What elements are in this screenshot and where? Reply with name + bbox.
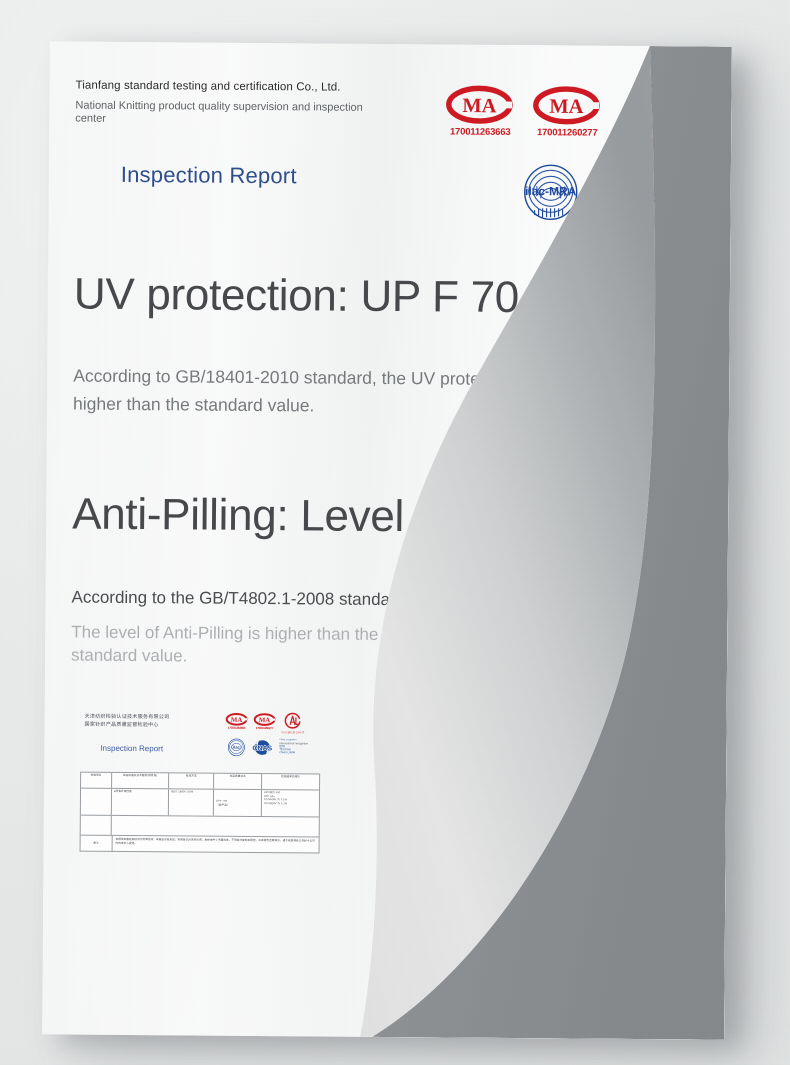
- document-header: Tianfang standard testing and certificat…: [75, 80, 405, 129]
- table-note-text: 本报告未盖检验检测专用章无效；本报告涂改无效；本报告仅对来样负责；未经本中心书面…: [116, 838, 316, 847]
- cma-icon: MA: [532, 85, 600, 126]
- svg-text:MA: MA: [462, 95, 496, 117]
- inspection-report-page: Tianfang standard testing and certificat…: [42, 41, 732, 1039]
- cma-icon: MA: [254, 713, 276, 726]
- table-note-row: 备注 本报告未盖检验检测专用章无效；本报告涂改无效；本报告仅对来样负责；未经本中…: [81, 836, 319, 854]
- table-cell: UPF值为 142 UPF 50+ T(UVA)AV 为 1.1% T(UVB)…: [262, 790, 319, 816]
- logo-row-secondary: ilac-MRA CNAS China recognition Internat…: [444, 162, 731, 228]
- table-cell-text: UPF值为 142 UPF 50+ T(UVA)AV 为 1.1% T(UVB)…: [264, 791, 317, 805]
- screenshot-canvas: Tianfang standard testing and certificat…: [0, 0, 790, 1065]
- svg-text:MA: MA: [549, 96, 583, 118]
- thumbnail-company-cn: 天津纺织检验认证技术服务有限公司 国家针织产品质量监督检验中心: [85, 714, 170, 730]
- cnas-icon: CNAS: [249, 739, 275, 756]
- table-cell-text: UPF >50 （原产品）: [216, 791, 259, 807]
- ilac-mra-icon: ilac-MRA: [519, 163, 583, 222]
- thumbnail-cal-number: (017) 国认监 (100) 号: [281, 730, 325, 734]
- page-title: Inspection Report: [121, 162, 297, 189]
- table-header-cell: 样品质量状态: [214, 774, 262, 789]
- anti-pilling-standard-paragraph: According to the GB/T4802.1-2008 standar…: [71, 584, 410, 614]
- thumbnail-cal: (017) 国认监 (100) 号: [281, 712, 325, 734]
- company-name: Tianfang standard testing and certificat…: [76, 80, 406, 95]
- cma-icon: MA: [226, 713, 248, 726]
- cnas-icon: CNAS: [591, 166, 669, 221]
- table-cell-text: ●防紫外线性能: [114, 790, 166, 794]
- cnas-testing-en: TESTING: [661, 199, 732, 212]
- table-cell: [112, 816, 319, 837]
- table-cell: UPF >50 （原产品）: [214, 790, 262, 816]
- table-header-label: 检验项目: [83, 774, 109, 778]
- table-header-label: 检测方法: [171, 774, 211, 778]
- svg-text:CNAS: CNAS: [600, 184, 660, 207]
- thumbnail-results-table: 检验项目 检验依据及技术要求(标准值) 检测方法 样品质量状态 检验结果及结论: [80, 772, 321, 854]
- table-cell: [81, 789, 112, 815]
- thumbnail-company-line1: 天津纺织检验认证技术服务有限公司: [85, 714, 170, 722]
- cnas-testing-cn: 检测: [661, 187, 732, 200]
- thumbnail-company-line2: 国家针织产品质量监督检验中心: [85, 721, 170, 729]
- cma-number-1: 170011263663: [445, 126, 515, 138]
- page-content: Tianfang standard testing and certificat…: [42, 41, 732, 1039]
- uv-protection-paragraph: According to GB/18401-2010 standard, the…: [73, 362, 633, 423]
- svg-text:MA: MA: [259, 717, 270, 724]
- table-cell: [81, 816, 112, 835]
- thumbnail-cma-number-1: 170011263663: [226, 726, 248, 730]
- center-name: National Knitting product quality superv…: [75, 100, 375, 128]
- table-blank-row: [81, 816, 319, 838]
- cal-number: (017) National recognition (100) No.: [623, 136, 732, 146]
- anti-pilling-result-paragraph: The level of Anti-Pilling is higher than…: [71, 622, 401, 670]
- thumbnail-cnas-accreditation-code: CNAS L0608: [279, 751, 308, 754]
- table-header-cell: 检验项目: [81, 773, 112, 788]
- cal-icon: [627, 82, 679, 134]
- ilac-mra-icon: ilac: [226, 738, 246, 757]
- table-header-cell: 检验结果及结论: [262, 774, 319, 789]
- logo-row-primary: MA 170011263663 MA: [445, 84, 732, 158]
- table-note-label: 备注: [93, 842, 98, 846]
- anti-pilling-heading: Anti-Pilling: Level 4-5: [72, 490, 479, 543]
- cal-certification: (017) National recognition (100) No.: [623, 82, 732, 146]
- cma-icon: MA: [445, 84, 513, 125]
- table-header-label: 检验依据及技术要求(标准值): [114, 774, 166, 778]
- table-cell: ●防紫外线性能: [112, 789, 169, 815]
- svg-text:MA: MA: [231, 717, 242, 724]
- table-note-label-cell: 备注: [81, 836, 113, 852]
- cma-certification-2: MA 170011260277: [532, 85, 602, 139]
- thumbnail-logos: MA 170011263663 MA: [225, 713, 325, 763]
- cal-icon: [284, 712, 302, 730]
- thumbnail-cma-number-2: 170011260277: [254, 726, 276, 730]
- cnas-text-block: China recognition International recognit…: [661, 166, 732, 224]
- table-header-label: 检验结果及结论: [264, 775, 317, 779]
- svg-text:ilac-MRA: ilac-MRA: [525, 184, 577, 198]
- cma-number-2: 170011260277: [532, 127, 602, 139]
- thumbnail-cma-1: MA 170011263663: [226, 713, 248, 730]
- cma-certification-1: MA 170011263663: [445, 84, 515, 138]
- uv-protection-heading: UV protection: UP F 70 +: [74, 270, 557, 324]
- report-thumbnail[interactable]: 天津纺织检验认证技术服务有限公司 国家针织产品质量监督检验中心 Inspecti…: [80, 714, 321, 854]
- thumbnail-header: 天津纺织检验认证技术服务有限公司 国家针织产品质量监督检验中心 Inspecti…: [80, 714, 320, 768]
- svg-text:CNAS: CNAS: [253, 745, 273, 752]
- thumbnail-logo-row-2: ilac CNAS China recognition Internationa…: [225, 738, 325, 763]
- table-note-body-cell: 本报告未盖检验检测专用章无效；本报告涂改无效；本报告仅对来样负责；未经本中心书面…: [112, 836, 318, 854]
- thumbnail-cnas-text: China recognition International recognit…: [279, 739, 308, 754]
- table-header-row: 检验项目 检验依据及技术要求(标准值) 检测方法 样品质量状态 检验结果及结论: [81, 773, 319, 791]
- thumbnail-cma-2: MA 170011260277: [254, 713, 276, 730]
- table-row: ●防紫外线性能 GB/T 18830-2009 UPF >50 （原产品） UP…: [81, 789, 319, 818]
- thumbnail-logo-row-1: MA 170011263663 MA: [225, 713, 325, 738]
- table-cell-text: GB/T 18830-2009: [171, 790, 211, 794]
- table-header-cell: 检验依据及技术要求(标准值): [112, 773, 169, 788]
- table-header-label: 样品质量状态: [216, 775, 259, 779]
- table-cell: GB/T 18830-2009: [169, 789, 214, 815]
- cnas-accreditation-code: CNAS L0608: [661, 211, 732, 224]
- certification-logos: MA 170011263663 MA: [444, 84, 731, 228]
- svg-text:ilac: ilac: [233, 745, 241, 750]
- thumbnail-report-title: Inspection Report: [100, 744, 163, 753]
- table-header-cell: 检测方法: [169, 773, 214, 788]
